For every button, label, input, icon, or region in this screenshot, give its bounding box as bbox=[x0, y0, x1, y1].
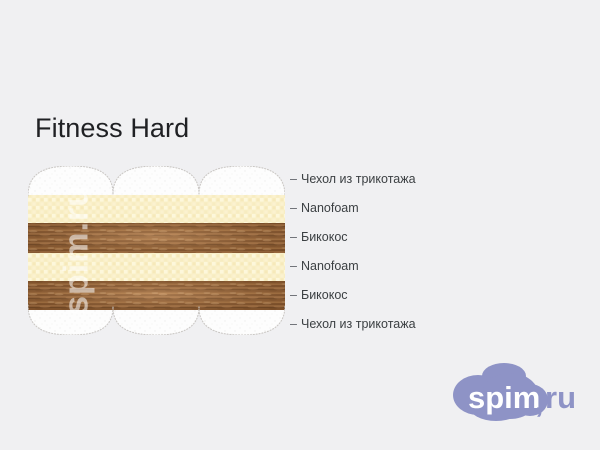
layer-cover-bottom bbox=[28, 310, 285, 335]
logo-tld-ru: ru bbox=[545, 380, 576, 415]
page-title: Fitness Hard bbox=[35, 111, 189, 145]
label-dash-icon: – bbox=[290, 171, 301, 187]
layer-label-text: Nanofoam bbox=[301, 200, 359, 216]
logo-word-spim: spim bbox=[468, 380, 540, 415]
logo-dot: , bbox=[535, 384, 544, 419]
layer-label-coir-top: – Бикокос bbox=[290, 229, 348, 245]
layer-cover-top bbox=[28, 166, 285, 195]
spim-ru-logo[interactable]: spim , ru bbox=[452, 362, 584, 424]
mattress-layers-svg bbox=[28, 166, 285, 335]
label-dash-icon: – bbox=[290, 229, 301, 245]
logo-svg: spim , ru bbox=[452, 362, 584, 424]
layer-label-text: Бикокос bbox=[301, 229, 348, 245]
layer-label-nanofoam-bottom: – Nanofoam bbox=[290, 258, 359, 274]
layer-label-nanofoam-top: – Nanofoam bbox=[290, 200, 359, 216]
label-dash-icon: – bbox=[290, 287, 301, 303]
layer-label-text: Чехол из трикотажа bbox=[301, 171, 416, 187]
layer-nanofoam-bottom bbox=[28, 253, 285, 281]
layer-nanofoam-top bbox=[28, 195, 285, 223]
layer-label-text: Бикокос bbox=[301, 287, 348, 303]
layer-label-coir-bottom: – Бикокос bbox=[290, 287, 348, 303]
layer-label-text: Nanofoam bbox=[301, 258, 359, 274]
mattress-cross-section-diagram bbox=[28, 166, 285, 335]
label-dash-icon: – bbox=[290, 258, 301, 274]
layer-label-cover-top: – Чехол из трикотажа bbox=[290, 171, 416, 187]
layer-label-cover-bottom: – Чехол из трикотажа bbox=[290, 316, 416, 332]
layer-label-text: Чехол из трикотажа bbox=[301, 316, 416, 332]
label-dash-icon: – bbox=[290, 316, 301, 332]
label-dash-icon: – bbox=[290, 200, 301, 216]
